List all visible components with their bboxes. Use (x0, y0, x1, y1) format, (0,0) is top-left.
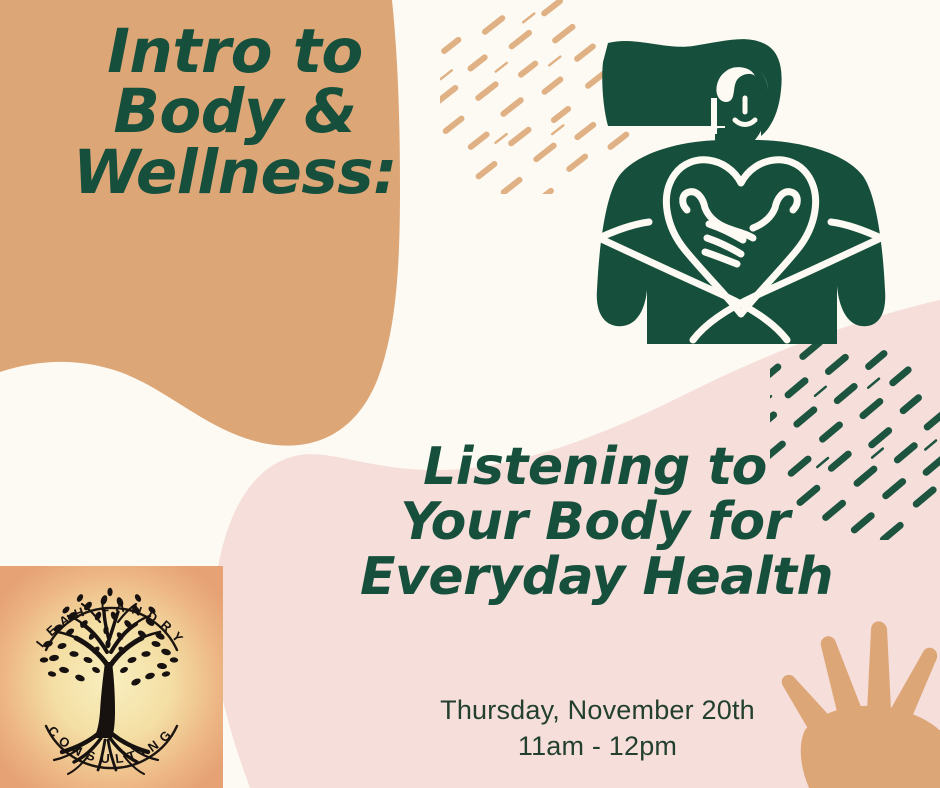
headline-line-3: Wellness: (70, 143, 400, 203)
leah-landry-consulting-logo: LEAH LANDRY CONSULTING (0, 566, 223, 788)
subtitle-line-1: Listening to (360, 440, 830, 495)
headline-line-2: Body & (70, 82, 400, 142)
event-date: Thursday, November 20th (375, 693, 820, 729)
subtitle-block: Listening to Your Body for Everyday Heal… (360, 440, 830, 605)
subtitle-line-2: Your Body for (360, 495, 830, 550)
subtitle-line-3: Everyday Health (360, 550, 830, 605)
event-time: 11am - 12pm (375, 729, 820, 765)
headline-block: Intro to Body & Wellness: (70, 22, 400, 203)
event-datetime-block: Thursday, November 20th 11am - 12pm (375, 693, 820, 765)
hand-palm (801, 706, 940, 788)
person-hugging-self-illustration (575, 28, 905, 358)
headline-line-1: Intro to (70, 22, 400, 82)
poster-canvas: Intro to Body & Wellness: Listening to Y… (0, 0, 940, 788)
hand-finger-3 (867, 621, 891, 712)
